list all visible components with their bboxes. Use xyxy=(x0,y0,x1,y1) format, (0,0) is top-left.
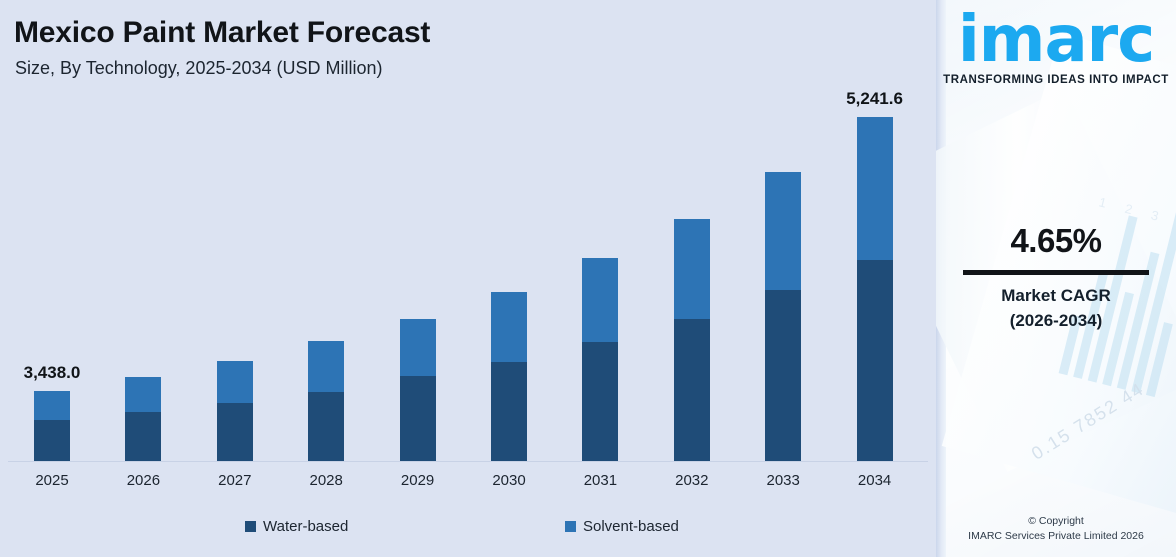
bar-segment-solvent-based[interactable] xyxy=(491,292,527,362)
bar-segment-water-based[interactable] xyxy=(582,342,618,461)
cagr-label-period: (2026-2034) xyxy=(936,311,1176,331)
page-subtitle: Size, By Technology, 2025-2034 (USD Mill… xyxy=(15,58,383,79)
bar-segment-water-based[interactable] xyxy=(674,319,710,461)
bar-segment-water-based[interactable] xyxy=(765,290,801,461)
x-axis-tick-label: 2026 xyxy=(98,472,188,489)
page-title: Mexico Paint Market Forecast xyxy=(14,16,430,50)
bar-group[interactable] xyxy=(217,361,253,461)
bar-segment-solvent-based[interactable] xyxy=(400,319,436,376)
bar-segment-solvent-based[interactable] xyxy=(308,341,344,392)
legend-swatch-icon xyxy=(245,521,256,532)
bar-group[interactable] xyxy=(765,172,801,461)
bar-segment-water-based[interactable] xyxy=(857,260,893,461)
x-axis-tick-label: 2025 xyxy=(7,472,97,489)
branding-panel: 1 2 3 4 0.15 7852 44 imarc TRANSFORMING … xyxy=(936,0,1176,557)
legend-item-water-based[interactable]: Water-based xyxy=(245,518,348,535)
bar-group[interactable] xyxy=(582,258,618,461)
bar-segment-solvent-based[interactable] xyxy=(217,361,253,403)
bar-segment-water-based[interactable] xyxy=(491,362,527,461)
cagr-value: 4.65% xyxy=(936,222,1176,260)
x-axis-tick-label: 2030 xyxy=(464,472,554,489)
chart-legend: Water-basedSolvent-based xyxy=(0,518,936,544)
logo-wordmark: imarc xyxy=(936,10,1176,71)
imarc-logo: imarc TRANSFORMING IDEAS INTO IMPACT xyxy=(936,10,1176,86)
cagr-divider xyxy=(963,270,1149,275)
bar-segment-solvent-based[interactable] xyxy=(582,258,618,342)
x-axis-tick-label: 2034 xyxy=(830,472,920,489)
bar-segment-water-based[interactable] xyxy=(308,392,344,461)
logo-tagline: TRANSFORMING IDEAS INTO IMPACT xyxy=(936,74,1176,86)
legend-label: Water-based xyxy=(263,518,348,535)
x-axis-tick-label: 2029 xyxy=(373,472,463,489)
bar-group[interactable] xyxy=(491,292,527,461)
bar-group[interactable] xyxy=(34,391,70,461)
bar-group[interactable] xyxy=(857,117,893,461)
chart-panel: Mexico Paint Market Forecast Size, By Te… xyxy=(0,0,936,557)
bar-segment-water-based[interactable] xyxy=(217,403,253,461)
bar-value-label: 5,241.6 xyxy=(805,89,945,109)
bar-segment-water-based[interactable] xyxy=(125,412,161,461)
background-minibar xyxy=(1146,322,1173,397)
bar-segment-water-based[interactable] xyxy=(400,376,436,461)
bar-segment-solvent-based[interactable] xyxy=(674,219,710,319)
x-axis-tick-label: 2031 xyxy=(555,472,645,489)
x-axis-baseline xyxy=(8,461,928,462)
bar-value-label: 3,438.0 xyxy=(0,363,122,383)
cagr-callout: 4.65% Market CAGR (2026-2034) xyxy=(936,222,1176,331)
bar-group[interactable] xyxy=(125,377,161,461)
copyright-line-1: © Copyright xyxy=(936,514,1176,530)
bar-segment-water-based[interactable] xyxy=(34,420,70,461)
bar-group[interactable] xyxy=(308,341,344,461)
copyright-notice: © Copyright IMARC Services Private Limit… xyxy=(936,514,1176,546)
x-axis-tick-label: 2032 xyxy=(647,472,737,489)
cagr-label-primary: Market CAGR xyxy=(936,286,1176,306)
x-axis-tick-label: 2027 xyxy=(190,472,280,489)
bar-group[interactable] xyxy=(674,219,710,461)
copyright-line-2: IMARC Services Private Limited 2026 xyxy=(936,529,1176,545)
bar-segment-solvent-based[interactable] xyxy=(34,391,70,420)
legend-item-solvent-based[interactable]: Solvent-based xyxy=(565,518,679,535)
bar-segment-solvent-based[interactable] xyxy=(857,117,893,260)
bar-segment-solvent-based[interactable] xyxy=(765,172,801,290)
x-axis-tick-label: 2028 xyxy=(281,472,371,489)
legend-label: Solvent-based xyxy=(583,518,679,535)
bar-group[interactable] xyxy=(400,319,436,461)
bar-segment-solvent-based[interactable] xyxy=(125,377,161,412)
x-axis-tick-label: 2033 xyxy=(738,472,828,489)
legend-swatch-icon xyxy=(565,521,576,532)
infographic-root: Mexico Paint Market Forecast Size, By Te… xyxy=(0,0,1176,557)
